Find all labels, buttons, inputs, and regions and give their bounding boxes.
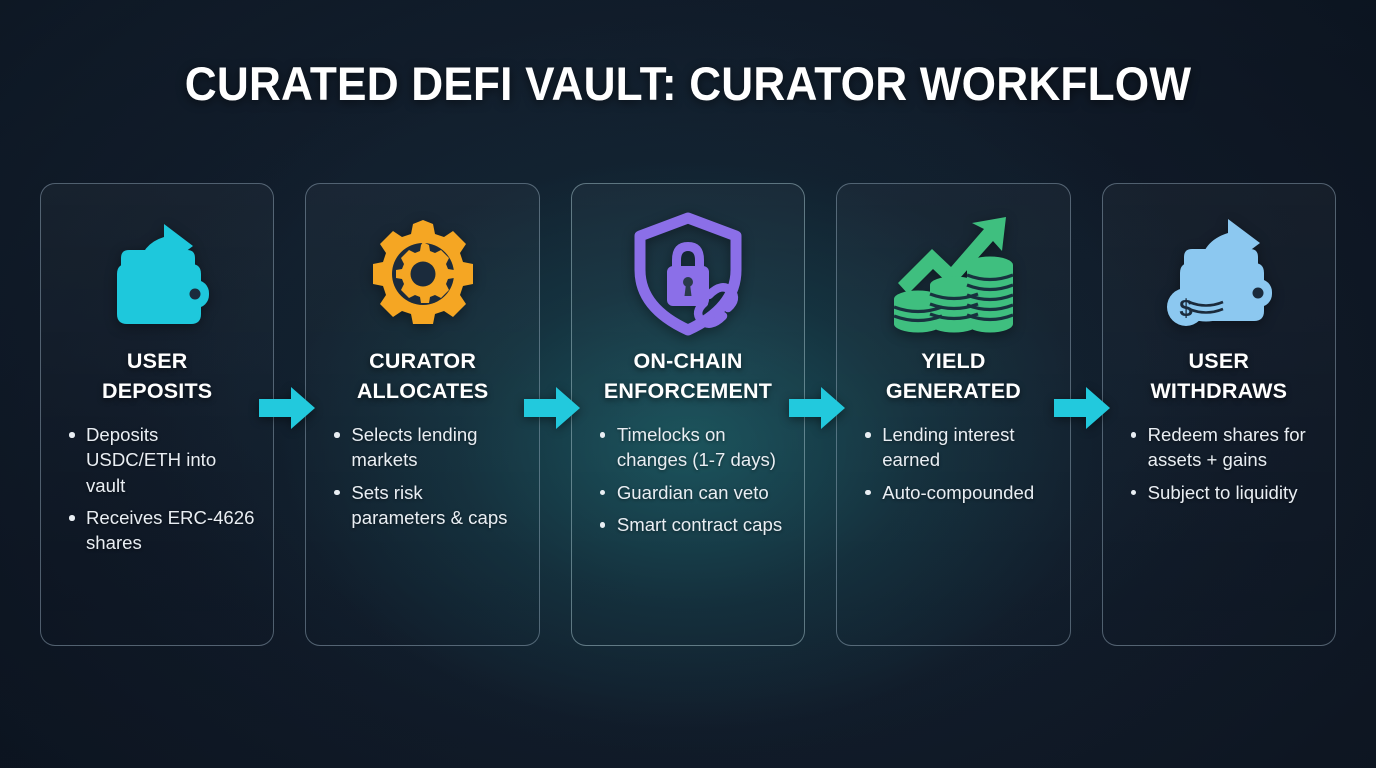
shield-lock-chain-icon (589, 210, 787, 338)
list-item: Guardian can veto (595, 480, 787, 505)
workflow-steps-row: USER DEPOSITS Deposits USDC/ETH into vau… (40, 183, 1336, 646)
arrow-right-icon (259, 385, 315, 431)
step-card-user-deposits[interactable]: USER DEPOSITS Deposits USDC/ETH into vau… (40, 183, 274, 646)
arrow-right-icon (789, 385, 845, 431)
step-bullet-list: Timelocks on changes (1-7 days) Guardian… (589, 422, 787, 544)
list-item: Deposits USDC/ETH into vault (64, 422, 256, 498)
step-bullet-list: Redeem shares for assets + gains Subject… (1120, 422, 1318, 512)
list-item: Selects lending markets (329, 422, 521, 473)
page-title: CURATED DEFI VAULT: CURATOR WORKFLOW (41, 56, 1334, 111)
list-item: Auto-compounded (860, 480, 1052, 505)
step-bullet-list: Selects lending markets Sets risk parame… (323, 422, 521, 537)
svg-text:$: $ (1179, 295, 1193, 322)
arrow-right-icon (524, 385, 580, 431)
growth-arrow-coins-icon (854, 210, 1052, 338)
infographic-page: CURATED DEFI VAULT: CURATOR WORKFLOW USE… (0, 0, 1376, 768)
step-bullet-list: Deposits USDC/ETH into vault Receives ER… (58, 422, 256, 562)
step-title: USER WITHDRAWS (1150, 346, 1287, 406)
wallet-withdraw-icon: $ (1120, 210, 1318, 338)
step-title: CURATOR ALLOCATES (357, 346, 489, 406)
step-title: YIELD GENERATED (886, 346, 1021, 406)
step-title: USER DEPOSITS (102, 346, 212, 406)
step-card-on-chain-enforcement[interactable]: ON-CHAIN ENFORCEMENT Timelocks on change… (571, 183, 805, 646)
step-title: ON-CHAIN ENFORCEMENT (604, 346, 772, 406)
list-item: Smart contract caps (595, 512, 787, 537)
step-card-yield-generated[interactable]: YIELD GENERATED Lending interest earned … (836, 183, 1070, 646)
wallet-deposit-icon (58, 210, 256, 338)
list-item: Receives ERC-4626 shares (64, 505, 256, 556)
step-card-curator-allocates[interactable]: CURATOR ALLOCATES Selects lending market… (305, 183, 539, 646)
arrow-right-icon (1054, 385, 1110, 431)
step-card-user-withdraws[interactable]: $ USER WITHDRAWS Redeem shares for asset… (1102, 183, 1336, 646)
gear-icon (323, 210, 521, 338)
step-bullet-list: Lending interest earned Auto-compounded (854, 422, 1052, 512)
list-item: Timelocks on changes (1-7 days) (595, 422, 787, 473)
list-item: Subject to liquidity (1126, 480, 1318, 505)
list-item: Redeem shares for assets + gains (1126, 422, 1318, 473)
list-item: Sets risk parameters & caps (329, 480, 521, 531)
list-item: Lending interest earned (860, 422, 1052, 473)
